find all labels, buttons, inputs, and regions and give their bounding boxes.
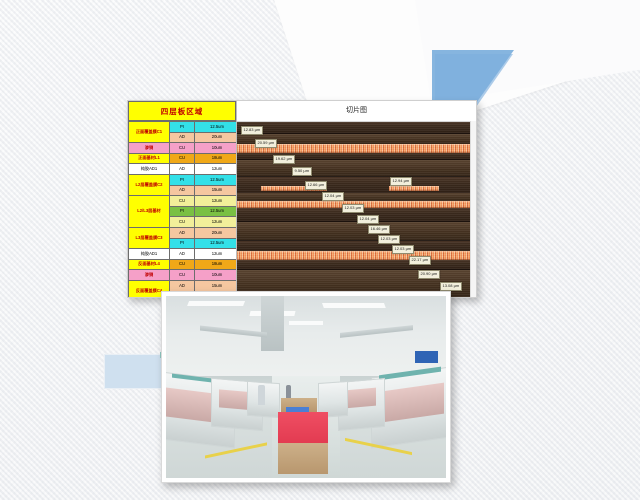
stackup-material: PI — [170, 174, 195, 185]
stackup-material: AD — [170, 185, 195, 196]
stackup-thickness: 12um — [195, 217, 240, 228]
stackup-material: PI — [170, 122, 195, 133]
measurement-callout: 12.03 µm — [378, 235, 400, 244]
stackup-thickness: 15um — [195, 280, 240, 291]
measurement-callout: 12.83 µm — [241, 126, 263, 135]
stackup-row: L2层覆盖膜C2PI12.5um — [129, 174, 240, 185]
cross-section-image: 12.83 µm20.59 µm19.62 µm9.50 µm12.66 µm1… — [237, 122, 476, 297]
stackup-layer-label: 反面基材L4 — [129, 259, 170, 270]
stackup-thickness: 10um — [195, 270, 240, 281]
stackup-row: 反面基材L4CU18um — [129, 259, 240, 270]
measurement-callout: 22.17 µm — [409, 256, 431, 265]
stackup-material: AD — [170, 132, 195, 143]
measurement-callout: 13.08 µm — [440, 282, 462, 291]
stackup-layer-label: 纯胶AD1 — [129, 249, 170, 260]
worker-1 — [258, 385, 265, 405]
cardboard-box-near — [278, 443, 328, 474]
stackup-thickness: 12.5um — [195, 122, 240, 133]
stackup-material: AD — [170, 280, 195, 291]
stackup-row: 纯胶AD1AD12um — [129, 164, 240, 175]
stackup-layer-label: 正面基材L1 — [129, 153, 170, 164]
stackup-row: 正面基材L1CU18um — [129, 153, 240, 164]
worker-2 — [286, 385, 290, 398]
factory-photo-frame — [161, 291, 451, 483]
measurement-callout: 12.04 µm — [357, 215, 379, 224]
measurement-callout: 16.46 µm — [368, 225, 390, 234]
stackup-layer-label: L2/L3层基材 — [129, 196, 170, 228]
stackup-panel: 四层板区域 正面覆盖膜C1PI12.5umAD20um渗铜CU10um正面基材L… — [128, 101, 236, 297]
stackup-thickness: 12.5um — [195, 206, 240, 217]
stackup-thickness: 20um — [195, 227, 240, 238]
factory-photo — [166, 296, 446, 478]
stackup-thickness: 20um — [195, 132, 240, 143]
machine-right-2-window — [345, 387, 376, 408]
stackup-layer-label: L2层覆盖膜C2 — [129, 174, 170, 195]
blue-rectangle-decoration — [104, 354, 167, 389]
ceiling-duct — [261, 296, 283, 351]
stackup-material: CU — [170, 143, 195, 154]
stackup-material: CU — [170, 259, 195, 270]
measurement-callout: 12.03 µm — [392, 245, 414, 254]
measurement-callout: 12.03 µm — [342, 204, 364, 213]
measurement-callout: 12.04 µm — [322, 192, 344, 201]
stackup-row: L3层覆盖膜C3AD20um — [129, 227, 240, 238]
stackup-material: CU — [170, 196, 195, 207]
stackup-material: CU — [170, 153, 195, 164]
stackup-row: 正面覆盖膜C1PI12.5um — [129, 122, 240, 133]
ceiling-light-3 — [322, 303, 386, 308]
stackup-thickness: 12.5um — [195, 238, 240, 249]
stackup-table: 正面覆盖膜C1PI12.5umAD20um渗铜CU10um正面基材L1CU18u… — [128, 121, 240, 298]
stackup-material: AD — [170, 164, 195, 175]
stackup-thickness: 12um — [195, 164, 240, 175]
safety-sign — [415, 351, 437, 364]
stackup-layer-label: 纯胶AD1 — [129, 164, 170, 175]
stackup-thickness: 10um — [195, 143, 240, 154]
stackup-thickness: 18um — [195, 153, 240, 164]
stackup-row: 反面覆盖膜C4AD15um — [129, 280, 240, 291]
stackup-thickness: 12um — [195, 249, 240, 260]
cross-section-panel: 切片图 12.83 µm20.5 — [236, 101, 476, 297]
stackup-thickness: 12um — [195, 196, 240, 207]
stackup-layer-label: 渗铜 — [129, 270, 170, 281]
stackup-thickness: 12.5um — [195, 174, 240, 185]
measurement-callout: 20.59 µm — [255, 139, 277, 148]
stackup-layer-label: L3层覆盖膜C3 — [129, 227, 170, 248]
stackup-thickness: 15um — [195, 185, 240, 196]
measurement-callout: 12.94 µm — [390, 177, 412, 186]
stackup-material: CU — [170, 217, 195, 228]
stackup-row: 渗铜CU10um — [129, 143, 240, 154]
stackup-slide-card: 四层板区域 正面覆盖膜C1PI12.5umAD20um渗铜CU10um正面基材L… — [127, 100, 477, 298]
stackup-material: PI — [170, 238, 195, 249]
stackup-row: L2/L3层基材CU12um — [129, 196, 240, 207]
stackup-layer-label: 正面覆盖膜C1 — [129, 122, 170, 143]
stackup-material: PI — [170, 206, 195, 217]
photo-ceiling — [166, 296, 446, 380]
ceiling-light-4 — [289, 321, 323, 325]
stackup-material: CU — [170, 270, 195, 281]
measurement-callout: 12.66 µm — [305, 181, 327, 190]
stackup-material: AD — [170, 249, 195, 260]
stackup-material: AD — [170, 227, 195, 238]
ceiling-light-1 — [187, 301, 245, 306]
stackup-row: 纯胶AD1AD12um — [129, 249, 240, 260]
cross-section-scrollbar[interactable] — [470, 121, 476, 297]
measurement-callout: 19.62 µm — [273, 155, 295, 164]
cross-section-title: 切片图 — [237, 101, 476, 122]
measurement-callout: 20.90 µm — [418, 270, 440, 279]
stackup-layer-label: 渗铜 — [129, 143, 170, 154]
stackup-row: 渗铜CU10um — [129, 270, 240, 281]
stackup-thickness: 18um — [195, 259, 240, 270]
stackup-title: 四层板区域 — [128, 101, 236, 121]
measurement-callout: 9.50 µm — [292, 167, 312, 176]
red-conveyor-table — [278, 412, 328, 445]
